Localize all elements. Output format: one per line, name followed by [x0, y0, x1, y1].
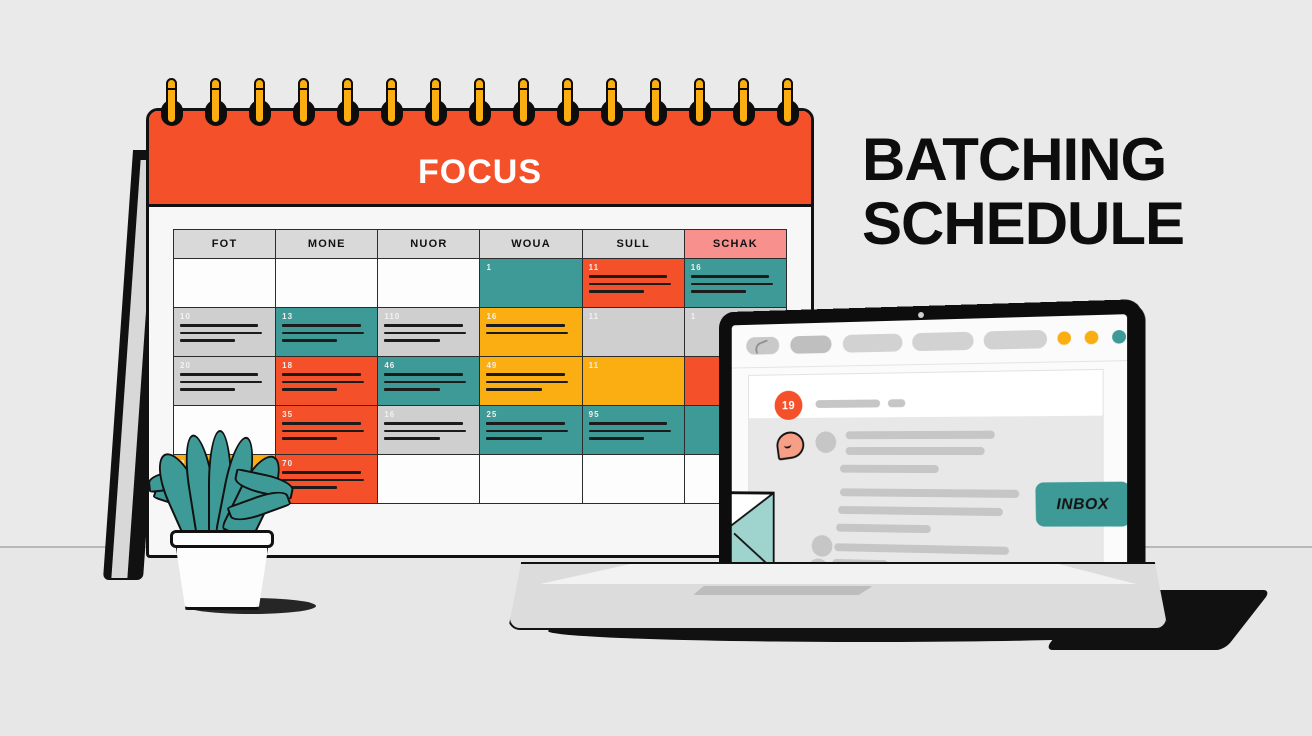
spiral-wire-top	[694, 78, 705, 90]
event-line	[282, 388, 337, 391]
event-line	[384, 422, 462, 425]
event-line	[282, 373, 360, 376]
spiral-wire-top	[606, 78, 617, 90]
day-number: 13	[282, 312, 371, 321]
page-title: BATCHING SCHEDULE	[862, 128, 1262, 256]
event-line	[384, 381, 466, 384]
spiral-ring	[293, 78, 315, 138]
event-line	[282, 332, 364, 335]
spiral-binding	[146, 78, 814, 142]
spiral-wire-top	[562, 78, 573, 90]
event-line	[282, 339, 337, 342]
calendar-day-cell[interactable]	[378, 259, 480, 308]
event-line	[691, 290, 746, 293]
spiral-ring	[469, 78, 491, 138]
calendar-header-row: FOTMONENUORWOUASULLSCHAK	[174, 230, 787, 259]
spiral-wire-top	[474, 78, 485, 90]
laptop-screen[interactable]: 19	[732, 314, 1127, 586]
event-line	[180, 388, 235, 391]
avatar	[815, 431, 836, 453]
event-line	[691, 283, 773, 286]
spiral-ring	[513, 78, 535, 138]
calendar-day-cell[interactable]: 13	[276, 308, 378, 357]
spiral-wire-top	[782, 78, 793, 90]
calendar-column-header-fot: FOT	[174, 230, 276, 259]
day-number: 110	[384, 312, 473, 321]
event-line	[384, 332, 466, 335]
event-line	[589, 290, 644, 293]
event-line	[180, 324, 258, 327]
spiral-wire-top	[386, 78, 397, 90]
event-line	[384, 324, 462, 327]
spiral-ring	[557, 78, 579, 138]
event-line	[180, 339, 235, 342]
event-line	[384, 373, 462, 376]
plant-pot-rim	[170, 530, 274, 548]
status-dot-amber[interactable]	[1057, 331, 1071, 345]
mail-tag-skeleton	[888, 399, 905, 407]
day-number: 10	[180, 312, 269, 321]
spiral-ring	[161, 78, 183, 138]
title-line-2: SCHEDULE	[862, 192, 1262, 256]
spiral-ring	[381, 78, 403, 138]
spiral-wire-top	[210, 78, 221, 90]
illustration-scene: BATCHING SCHEDULE FOCUS FOTMONENUORWOUAS…	[0, 0, 1312, 736]
laptop-lid: 19	[719, 299, 1142, 603]
event-line	[384, 437, 439, 440]
event-line	[384, 339, 439, 342]
status-dot-amber[interactable]	[1085, 331, 1099, 345]
spiral-ring	[733, 78, 755, 138]
back-arrow-icon[interactable]	[746, 337, 779, 355]
title-line-1: BATCHING	[862, 126, 1166, 193]
event-lines	[589, 275, 678, 293]
mail-row-skeleton	[846, 447, 985, 455]
toolbar-pill[interactable]	[912, 332, 973, 352]
trackpad[interactable]	[693, 586, 873, 595]
event-line	[180, 381, 262, 384]
event-lines	[180, 373, 269, 391]
envelope-fold-lines	[732, 493, 773, 569]
spiral-wire-top	[430, 78, 441, 90]
event-line	[589, 275, 667, 278]
mail-row-skeleton	[836, 524, 931, 534]
spiral-wire-top	[518, 78, 529, 90]
spiral-ring	[601, 78, 623, 138]
mail-app-page[interactable]: 19	[748, 369, 1104, 571]
event-lines	[384, 422, 473, 440]
browser-toolbar[interactable]	[732, 314, 1127, 368]
mail-row-skeleton	[846, 431, 995, 440]
day-number: 35	[282, 410, 371, 419]
calendar-header-label: FOCUS	[149, 153, 811, 192]
status-dot-teal[interactable]	[1112, 330, 1126, 344]
event-line	[282, 324, 360, 327]
day-number: 11	[589, 263, 678, 272]
event-line	[180, 373, 258, 376]
event-line	[282, 422, 360, 425]
event-line	[691, 275, 770, 278]
spiral-ring	[337, 78, 359, 138]
calendar-day-cell[interactable]: 20	[174, 357, 276, 406]
day-number: 18	[282, 361, 371, 370]
event-line	[384, 430, 466, 433]
toolbar-pill[interactable]	[984, 330, 1047, 350]
inbox-badge[interactable]: INBOX	[1035, 482, 1127, 527]
calendar-day-cell[interactable]	[378, 455, 480, 504]
calendar-column-header-woua: WOUA	[480, 230, 582, 259]
mail-subject-skeleton	[815, 399, 880, 408]
calendar-day-cell[interactable]: 18	[276, 357, 378, 406]
unread-count-badge[interactable]: 19	[775, 391, 803, 420]
webcam-icon	[918, 312, 924, 318]
calendar-day-cell[interactable]: 46	[378, 357, 480, 406]
event-lines	[384, 324, 473, 342]
calendar-column-header-mone: MONE	[276, 230, 378, 259]
event-line	[282, 381, 364, 384]
day-number: 1	[486, 263, 575, 272]
spiral-wire-top	[166, 78, 177, 90]
event-line	[180, 332, 262, 335]
envelope-icon[interactable]	[732, 491, 775, 571]
potted-plant	[146, 430, 296, 610]
spiral-wire-top	[650, 78, 661, 90]
avatar	[812, 535, 833, 557]
calendar-column-header-nuor: NUOR	[378, 230, 480, 259]
event-lines	[384, 373, 473, 391]
calendar-column-header-sull: SULL	[582, 230, 684, 259]
calendar-day-cell[interactable]: 16	[378, 406, 480, 455]
spiral-ring	[205, 78, 227, 138]
spiral-ring	[689, 78, 711, 138]
event-lines	[180, 324, 269, 342]
event-lines	[282, 373, 371, 391]
spiral-ring	[645, 78, 667, 138]
toolbar-pill[interactable]	[843, 333, 903, 352]
day-number: 16	[384, 410, 473, 419]
spiral-wire-top	[298, 78, 309, 90]
spiral-ring	[777, 78, 799, 138]
event-line	[589, 283, 671, 286]
laptop[interactable]: 19	[508, 300, 1168, 650]
calendar-day-cell[interactable]	[276, 259, 378, 308]
day-number: 46	[384, 361, 473, 370]
event-lines	[691, 275, 780, 293]
day-number: 16	[691, 263, 780, 272]
spiral-ring	[425, 78, 447, 138]
event-line	[384, 388, 439, 391]
calendar-column-header-schak: SCHAK	[684, 230, 786, 259]
day-number: 20	[180, 361, 269, 370]
event-lines	[282, 324, 371, 342]
spiral-wire-top	[254, 78, 265, 90]
spiral-wire-top	[738, 78, 749, 90]
mail-row-skeleton	[840, 465, 939, 473]
spiral-wire-top	[342, 78, 353, 90]
calendar-day-cell[interactable]: 10	[174, 308, 276, 357]
calendar-day-cell[interactable]	[174, 259, 276, 308]
spiral-ring	[249, 78, 271, 138]
toolbar-pill[interactable]	[790, 335, 831, 354]
calendar-day-cell[interactable]: 110	[378, 308, 480, 357]
